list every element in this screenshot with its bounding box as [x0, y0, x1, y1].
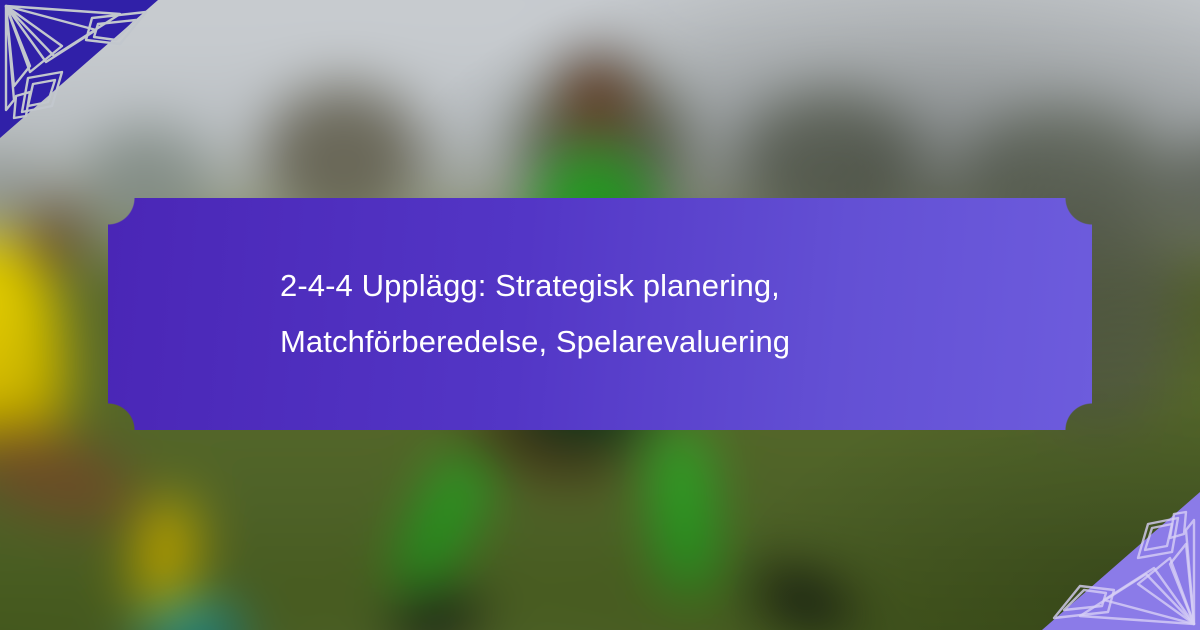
title-banner: 2-4-4 Upplägg: Strategisk planering, Mat…: [108, 198, 1092, 430]
share-card: 2-4-4 Upplägg: Strategisk planering, Mat…: [0, 0, 1200, 630]
banner-title: 2-4-4 Upplägg: Strategisk planering, Mat…: [256, 258, 944, 370]
